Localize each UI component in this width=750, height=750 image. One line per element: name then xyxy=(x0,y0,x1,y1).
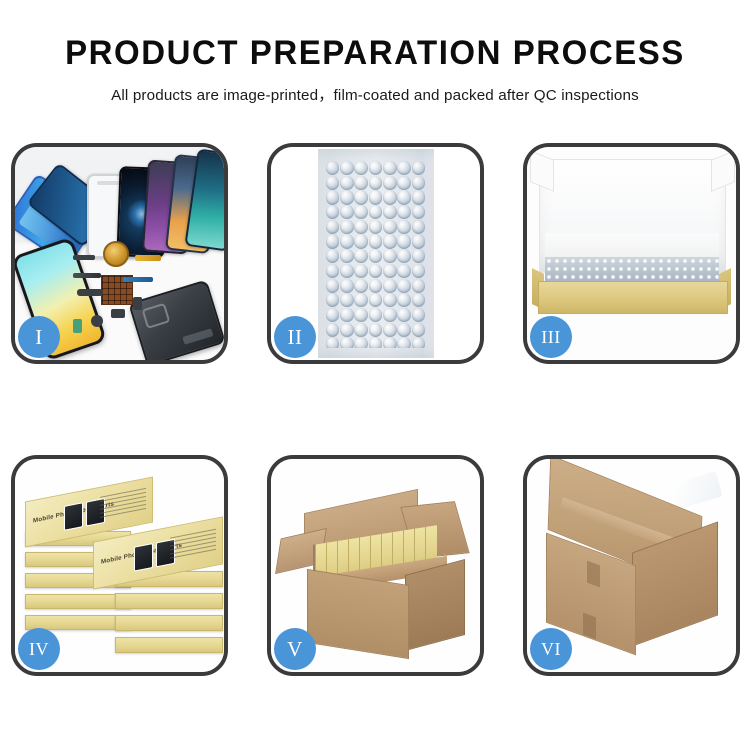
bubble xyxy=(412,234,426,248)
bubble xyxy=(326,279,340,293)
bubble xyxy=(369,220,383,234)
bubble xyxy=(397,220,411,234)
bubble xyxy=(397,279,411,293)
bubble xyxy=(326,190,340,204)
bubble xyxy=(369,161,383,175)
bubble xyxy=(412,323,426,337)
bubble xyxy=(412,279,426,293)
bubble xyxy=(412,249,426,263)
step-badge-4: IV xyxy=(18,628,60,670)
bubble-grid xyxy=(326,161,426,348)
bubble xyxy=(354,249,368,263)
bubble xyxy=(340,176,354,190)
bubble xyxy=(340,190,354,204)
bubble xyxy=(340,308,354,322)
bubble xyxy=(412,161,426,175)
process-step-panel-3[interactable]: III xyxy=(523,143,740,364)
box-label-lines xyxy=(170,529,216,564)
copper-coil-part xyxy=(103,241,129,267)
process-step-panel-5[interactable]: V xyxy=(267,455,484,676)
bubble xyxy=(340,293,354,307)
bubble xyxy=(383,205,397,219)
bubble xyxy=(354,190,368,204)
bubble xyxy=(412,337,426,348)
bubble xyxy=(412,205,426,219)
step-badge-6: VI xyxy=(530,628,572,670)
box-front-panel xyxy=(538,281,728,314)
flex-cable-part xyxy=(123,277,153,282)
small-part xyxy=(133,297,142,310)
bubble xyxy=(369,176,383,190)
page-title: PRODUCT PREPARATION PROCESS xyxy=(11,0,739,72)
bubble xyxy=(397,264,411,278)
bubble xyxy=(354,234,368,248)
carton-tab xyxy=(583,613,596,640)
bubble xyxy=(369,337,383,348)
bubble xyxy=(354,323,368,337)
bubble xyxy=(397,337,411,348)
bubble xyxy=(354,293,368,307)
flex-cable-part xyxy=(73,273,101,278)
bubble xyxy=(369,323,383,337)
bubble xyxy=(326,264,340,278)
bubble xyxy=(383,293,397,307)
step-badge-1: I xyxy=(18,316,60,358)
page-subtitle: All products are image-printed，film-coat… xyxy=(0,72,750,105)
bubble xyxy=(354,205,368,219)
bubble xyxy=(383,249,397,263)
carton-tab xyxy=(587,561,600,588)
bubble xyxy=(397,205,411,219)
bubble xyxy=(340,220,354,234)
bubble xyxy=(397,308,411,322)
bubble xyxy=(340,264,354,278)
bubble xyxy=(340,234,354,248)
bubble xyxy=(369,190,383,204)
step-badge-3: III xyxy=(530,316,572,358)
small-part xyxy=(73,319,82,333)
bubble xyxy=(383,323,397,337)
process-step-panel-1[interactable]: I xyxy=(11,143,228,364)
small-part xyxy=(77,289,103,296)
bubble xyxy=(326,161,340,175)
bubble xyxy=(412,308,426,322)
bubble xyxy=(383,264,397,278)
bubble xyxy=(397,234,411,248)
bubble xyxy=(383,308,397,322)
bubble xyxy=(340,249,354,263)
small-part xyxy=(73,255,95,260)
bubble xyxy=(412,190,426,204)
carton-side-panel xyxy=(405,559,465,651)
bubble xyxy=(326,308,340,322)
process-step-panel-6[interactable]: VI xyxy=(523,455,740,676)
bubble xyxy=(369,205,383,219)
bubble xyxy=(412,176,426,190)
bubble xyxy=(383,161,397,175)
small-part xyxy=(111,309,125,318)
bubble xyxy=(383,234,397,248)
bubble xyxy=(369,264,383,278)
bubble xyxy=(369,293,383,307)
bubble xyxy=(354,308,368,322)
step-badge-5: V xyxy=(274,628,316,670)
bubble xyxy=(340,279,354,293)
bubble-wrap-sheet xyxy=(318,149,434,358)
process-step-grid: I II III xyxy=(11,143,742,676)
bubble xyxy=(354,337,368,348)
bubble xyxy=(369,308,383,322)
bubble xyxy=(412,264,426,278)
bubble xyxy=(354,161,368,175)
process-step-panel-4[interactable]: Mobile Phone Spare Parts Mobile Phone Sp… xyxy=(11,455,228,676)
bubble xyxy=(412,293,426,307)
bubble xyxy=(354,220,368,234)
process-step-panel-2[interactable]: II xyxy=(267,143,484,364)
bubble xyxy=(412,220,426,234)
flex-cable-part xyxy=(135,255,161,261)
bubble xyxy=(326,176,340,190)
bubble xyxy=(354,176,368,190)
bubble xyxy=(326,337,340,348)
bubble xyxy=(326,293,340,307)
bubble xyxy=(326,220,340,234)
bubble xyxy=(383,190,397,204)
bubble xyxy=(397,293,411,307)
bubble xyxy=(354,279,368,293)
bubble xyxy=(397,161,411,175)
bubble xyxy=(369,279,383,293)
bubble xyxy=(340,205,354,219)
bubble xyxy=(326,234,340,248)
bubble xyxy=(340,337,354,348)
bubble xyxy=(383,176,397,190)
bubble xyxy=(340,161,354,175)
bubble xyxy=(326,249,340,263)
box-label-lines xyxy=(100,488,146,523)
bubble xyxy=(397,190,411,204)
bubble xyxy=(383,279,397,293)
bubble xyxy=(326,323,340,337)
bubble xyxy=(397,249,411,263)
step-badge-2: II xyxy=(274,316,316,358)
bubble xyxy=(369,234,383,248)
bubble xyxy=(340,323,354,337)
bubble-wrapped-contents xyxy=(545,257,719,283)
bubble xyxy=(397,323,411,337)
foam-insert xyxy=(545,233,719,259)
bubble xyxy=(383,220,397,234)
small-part xyxy=(91,315,103,327)
bubble xyxy=(397,176,411,190)
bubble xyxy=(326,205,340,219)
bubble xyxy=(383,337,397,348)
bubble xyxy=(354,264,368,278)
page-header: PRODUCT PREPARATION PROCESS All products… xyxy=(0,0,750,105)
bubble xyxy=(369,249,383,263)
